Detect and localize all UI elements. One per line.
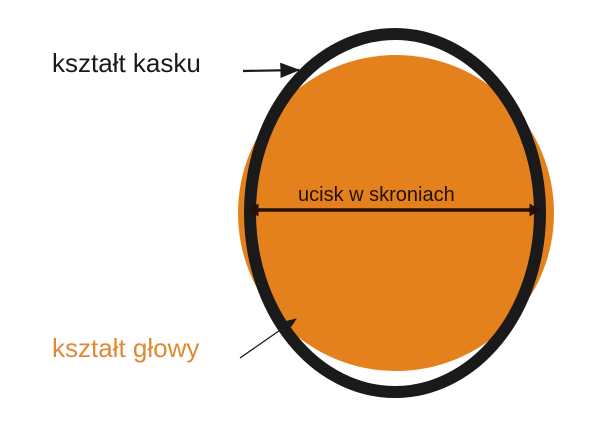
temple-pressure-label: ucisk w skroniach bbox=[298, 185, 455, 205]
helmet-leader-arrow bbox=[243, 70, 299, 71]
helmet-head-fit-diagram: kształt kasku kształt głowy ucisk w skro… bbox=[0, 0, 600, 426]
head-shape-label: kształt głowy bbox=[52, 335, 199, 361]
helmet-shape-label: kształt kasku bbox=[52, 50, 201, 76]
